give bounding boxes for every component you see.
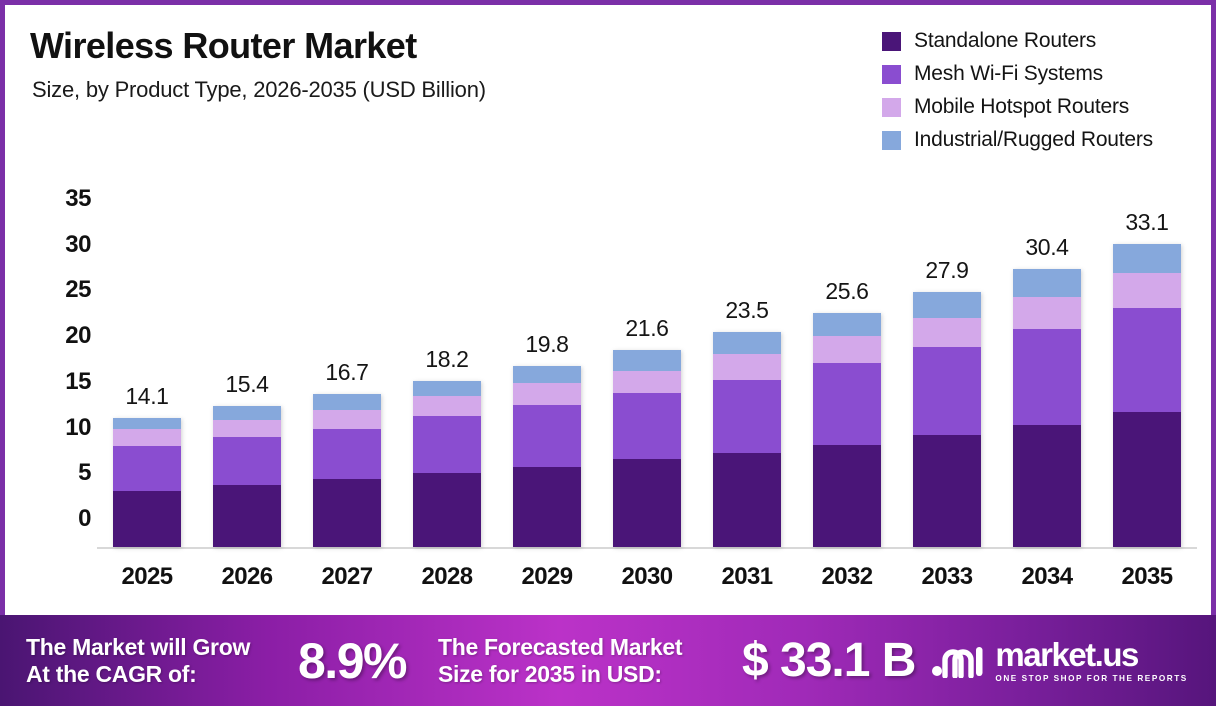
stacked-bar[interactable] [713,332,781,547]
y-axis-tick-label: 10 [65,414,91,442]
x-axis-ticks: 2025202620272028202920302031203220332034… [97,557,1197,597]
stacked-bar[interactable] [413,381,481,547]
bar-segment[interactable] [613,393,681,460]
legend-item-label: Mesh Wi-Fi Systems [914,62,1103,86]
legend-swatch-icon [882,131,901,150]
y-axis-ticks: 05101520253035 [35,165,91,605]
logo-tagline: ONE STOP SHOP FOR THE REPORTS [995,674,1187,683]
stacked-bar[interactable] [513,366,581,547]
forecast-size-label: The Forecasted Market Size for 2035 in U… [438,634,738,687]
x-axis-tick-label: 2030 [613,563,681,591]
bar-group[interactable]: 15.4 [213,227,281,547]
legend-swatch-icon [882,32,901,51]
y-axis-tick-label: 15 [65,368,91,396]
bar-segment[interactable] [413,416,481,473]
stacked-bar[interactable] [313,394,381,547]
x-axis-tick-label: 2026 [213,563,281,591]
bar-segment[interactable] [1013,329,1081,424]
bar-segment[interactable] [113,429,181,445]
x-axis-tick-label: 2031 [713,563,781,591]
bar-total-label: 15.4 [213,371,281,398]
bar-segment[interactable] [513,366,581,383]
bar-segment[interactable] [1013,297,1081,330]
bar-segment[interactable] [813,336,881,363]
bar-segment[interactable] [613,350,681,371]
bar-segment[interactable] [1013,269,1081,296]
chart-plot-area: 05101520253035 14.115.416.718.219.821.62… [5,165,1211,605]
bar-segment[interactable] [513,405,581,466]
x-axis-line [97,547,1197,549]
y-axis-tick-label: 30 [65,231,91,259]
bar-total-label: 19.8 [513,331,581,358]
bar-segment[interactable] [313,479,381,547]
bar-segment[interactable] [213,485,281,547]
bar-total-label: 16.7 [313,359,381,386]
y-axis-tick-label: 5 [78,459,91,487]
bar-group[interactable]: 30.4 [1013,227,1081,547]
bar-segment[interactable] [713,354,781,380]
bar-segment[interactable] [713,380,781,453]
stacked-bar[interactable] [1113,244,1181,547]
bar-group[interactable]: 18.2 [413,227,481,547]
bar-segment[interactable] [613,371,681,393]
forecast-size-label-line1: The Forecasted Market [438,634,738,661]
bar-segment[interactable] [713,332,781,354]
bar-segment[interactable] [313,394,381,410]
bar-total-label: 33.1 [1113,209,1181,236]
stacked-bar[interactable] [1013,269,1081,547]
bar-segment[interactable] [713,453,781,547]
bar-segment[interactable] [1113,273,1181,309]
x-axis-tick-label: 2033 [913,563,981,591]
x-axis-tick-label: 2032 [813,563,881,591]
x-axis-tick-label: 2028 [413,563,481,591]
y-axis-tick-label: 0 [78,505,91,533]
legend-item: Mobile Hotspot Routers [882,93,1153,121]
legend-swatch-icon [882,65,901,84]
bar-series-container: 14.115.416.718.219.821.623.525.627.930.4… [97,227,1197,547]
chart-legend: Standalone RoutersMesh Wi-Fi SystemsMobi… [882,27,1153,154]
bar-segment[interactable] [913,318,981,346]
bar-segment[interactable] [1113,308,1181,411]
x-axis-tick-label: 2025 [113,563,181,591]
bar-segment[interactable] [213,437,281,485]
bar-group[interactable]: 21.6 [613,227,681,547]
bar-segment[interactable] [913,435,981,547]
bar-segment[interactable] [113,491,181,547]
stacked-bar[interactable] [613,350,681,547]
bar-total-label: 21.6 [613,315,681,342]
infographic-frame: Wireless Router Market Size, by Product … [0,0,1216,706]
x-axis-tick-label: 2027 [313,563,381,591]
market-us-logo-icon [931,644,987,678]
bar-segment[interactable] [213,406,281,420]
cagr-label: The Market will Grow At the CAGR of: [26,634,294,687]
x-axis-tick-label: 2029 [513,563,581,591]
stacked-bar[interactable] [813,313,881,547]
legend-item-label: Mobile Hotspot Routers [914,95,1129,119]
y-axis-tick-label: 35 [65,185,91,213]
market-us-logo: market.us ONE STOP SHOP FOR THE REPORTS [931,638,1187,683]
bar-segment[interactable] [913,292,981,319]
legend-swatch-icon [882,98,901,117]
stacked-bar[interactable] [913,292,981,547]
bar-group[interactable]: 33.1 [1113,227,1181,547]
bar-group[interactable]: 27.9 [913,227,981,547]
stacked-bar[interactable] [213,406,281,547]
bar-total-label: 30.4 [1013,234,1081,261]
bar-segment[interactable] [413,396,481,416]
bar-segment[interactable] [613,459,681,547]
cagr-value: 8.9% [298,632,406,690]
bar-segment[interactable] [1113,412,1181,547]
bar-total-label: 23.5 [713,297,781,324]
x-axis-tick-label: 2034 [1013,563,1081,591]
bar-segment[interactable] [913,347,981,435]
bar-segment[interactable] [813,445,881,547]
legend-item-label: Standalone Routers [914,29,1096,53]
bar-total-label: 14.1 [113,383,181,410]
chart-header: Wireless Router Market Size, by Product … [5,5,1211,165]
bar-segment[interactable] [1113,244,1181,272]
bar-total-label: 25.6 [813,278,881,305]
forecast-size-value: $ 33.1 B [742,633,915,688]
logo-text-block: market.us ONE STOP SHOP FOR THE REPORTS [995,638,1187,683]
cagr-label-line2: At the CAGR of: [26,661,294,688]
bar-group[interactable]: 25.6 [813,227,881,547]
bar-group[interactable]: 14.1 [113,227,181,547]
logo-wordmark: market.us [995,638,1187,671]
bar-segment[interactable] [1013,425,1081,548]
legend-item-label: Industrial/Rugged Routers [914,128,1153,152]
y-axis-tick-label: 25 [65,276,91,304]
summary-banner: The Market will Grow At the CAGR of: 8.9… [0,615,1216,706]
bar-group[interactable]: 16.7 [313,227,381,547]
bar-total-label: 27.9 [913,257,981,284]
bar-segment[interactable] [313,429,381,479]
y-axis-tick-label: 20 [65,322,91,350]
stacked-bar[interactable] [113,418,181,547]
bar-segment[interactable] [213,420,281,437]
bar-segment[interactable] [113,446,181,492]
bar-group[interactable]: 23.5 [713,227,781,547]
forecast-size-label-line2: Size for 2035 in USD: [438,661,738,688]
chart-subtitle: Size, by Product Type, 2026-2035 (USD Bi… [32,77,486,103]
x-axis-tick-label: 2035 [1113,563,1181,591]
bar-segment[interactable] [113,418,181,429]
bar-segment[interactable] [313,410,381,429]
bar-segment[interactable] [413,381,481,397]
page-title: Wireless Router Market [30,25,417,67]
bar-segment[interactable] [813,363,881,444]
bar-segment[interactable] [513,383,581,405]
bar-total-label: 18.2 [413,346,481,373]
bar-segment[interactable] [813,313,881,336]
bar-segment[interactable] [513,467,581,547]
legend-item: Mesh Wi-Fi Systems [882,60,1153,88]
legend-item: Standalone Routers [882,27,1153,55]
cagr-label-line1: The Market will Grow [26,634,294,661]
bar-segment[interactable] [413,473,481,547]
legend-item: Industrial/Rugged Routers [882,126,1153,154]
bar-group[interactable]: 19.8 [513,227,581,547]
